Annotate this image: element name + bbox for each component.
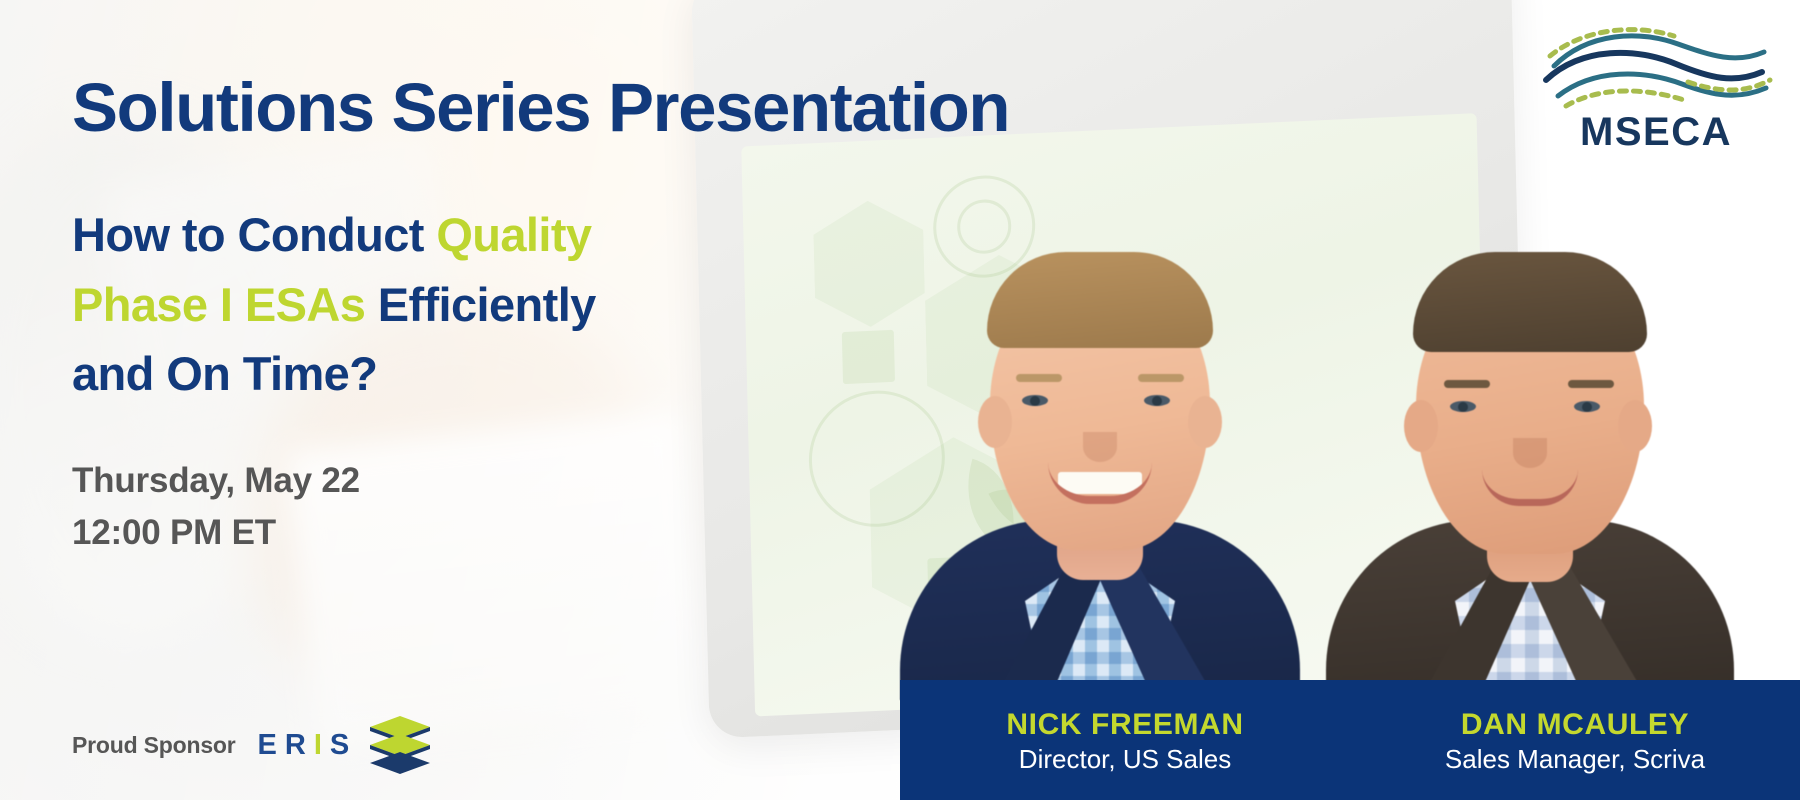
eris-logo: ERIS [258, 716, 431, 774]
eyebrow-right [1138, 374, 1184, 382]
webinar-promo-banner: NICK FREEMAN Director, US Sales DAN MCAU… [0, 0, 1800, 800]
speaker-title: Director, US Sales [1019, 743, 1231, 776]
ear-right [1188, 396, 1222, 448]
speaker-name: DAN MCAULEY [1461, 709, 1689, 741]
eris-wordmark: ERIS [258, 729, 358, 762]
event-time: 12:00 PM ET [72, 507, 360, 559]
nose [1083, 432, 1117, 462]
subtitle-part-1: How to Conduct [72, 208, 436, 261]
speaker-title: Sales Manager, Scriva [1445, 743, 1705, 776]
speaker-photo-dan-mcauley [1320, 120, 1740, 700]
speaker-name: NICK FREEMAN [1006, 709, 1243, 741]
nose [1513, 438, 1547, 468]
event-datetime: Thursday, May 22 12:00 PM ET [72, 455, 360, 559]
pupil-right [1152, 396, 1162, 406]
event-date: Thursday, May 22 [72, 455, 360, 507]
eris-stacked-layers-icon [370, 716, 430, 774]
subtitle: How to Conduct Quality Phase I ESAs Effi… [72, 200, 832, 409]
hair [1413, 252, 1647, 352]
pupil-right [1582, 402, 1592, 412]
mseca-wordmark: MSECA [1536, 110, 1776, 155]
eyebrow-right [1568, 380, 1614, 388]
eris-letter-s: S [330, 729, 357, 762]
eris-letter-e: E [258, 729, 285, 762]
speaker-photo-nick-freeman [890, 120, 1310, 700]
pupil-left [1458, 402, 1468, 412]
ear-right [1618, 400, 1652, 452]
mseca-waves-icon [1536, 22, 1776, 122]
pupil-left [1030, 396, 1040, 406]
eris-letter-r: R [285, 729, 314, 762]
speaker-cell-1: NICK FREEMAN Director, US Sales [900, 680, 1350, 800]
page-title: Solutions Series Presentation [72, 68, 1009, 147]
eris-letter-i: I [314, 729, 330, 762]
subtitle-highlight-2: Phase I ESAs [72, 278, 365, 331]
speaker-nameplate-bar: NICK FREEMAN Director, US Sales DAN MCAU… [900, 680, 1800, 800]
eyebrow-left [1444, 380, 1490, 388]
mseca-logo: MSECA [1536, 22, 1776, 157]
hair [987, 252, 1213, 348]
speaker-cell-2: DAN MCAULEY Sales Manager, Scriva [1350, 680, 1800, 800]
ear-left [978, 396, 1012, 448]
eyebrow-left [1016, 374, 1062, 382]
text-content-column: Solutions Series Presentation How to Con… [72, 0, 852, 800]
subtitle-part-3: and On Time? [72, 347, 377, 400]
sponsor-block: Proud Sponsor ERIS [72, 716, 430, 774]
sponsor-label: Proud Sponsor [72, 732, 236, 759]
subtitle-part-2: Efficiently [365, 278, 595, 331]
speaker-photos [880, 120, 1800, 700]
ear-left [1404, 400, 1438, 452]
subtitle-highlight-1: Quality [436, 208, 591, 261]
